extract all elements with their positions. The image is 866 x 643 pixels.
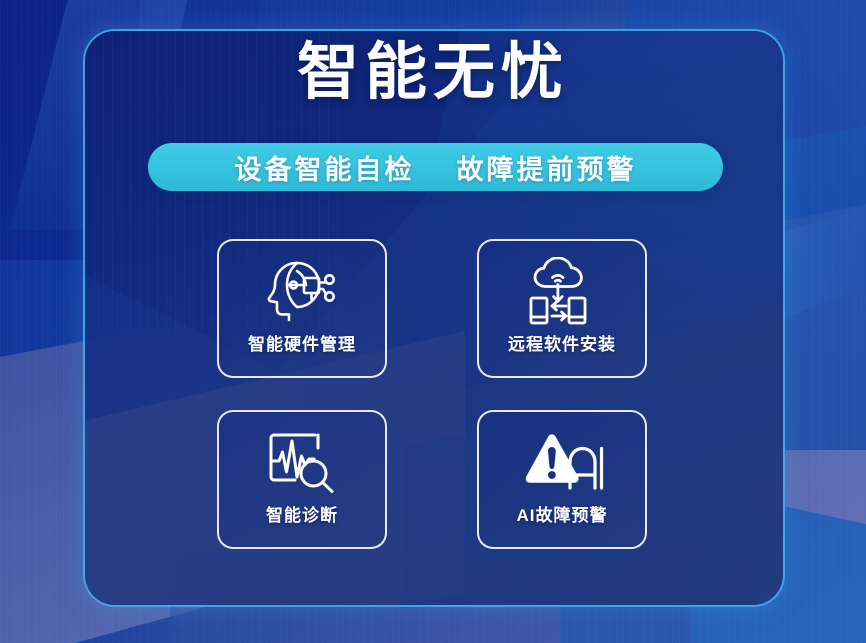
feature-card-remote-install[interactable]: 远程软件安装 [477,239,647,378]
promo-banner: 智能无忧 设备智能自检 故障提前预警 [0,0,866,643]
feature-card-label: 智能诊断 [266,501,338,526]
cloud-device-transfer-icon [523,254,601,328]
ai-head-circuit-icon [266,254,338,328]
feature-card-label: AI故障预警 [517,501,608,526]
subtitle-pill: 设备智能自检 故障提前预警 [148,143,723,191]
feature-card-ai-fault-warning[interactable]: AI故障预警 [477,410,647,549]
feature-card-grid: 智能硬件管理 [217,239,647,549]
feature-card-smart-diagnosis[interactable]: 智能诊断 [217,410,387,549]
subtitle-text: 设备智能自检 故障提前预警 [234,148,636,187]
warning-triangle-ai-icon [520,425,604,499]
feature-card-label: 智能硬件管理 [248,330,356,355]
feature-card-label: 远程软件安装 [508,330,616,355]
page-title: 智能无忧 [0,40,866,107]
waveform-magnifier-icon [265,425,339,499]
feature-card-smart-hardware[interactable]: 智能硬件管理 [217,239,387,378]
